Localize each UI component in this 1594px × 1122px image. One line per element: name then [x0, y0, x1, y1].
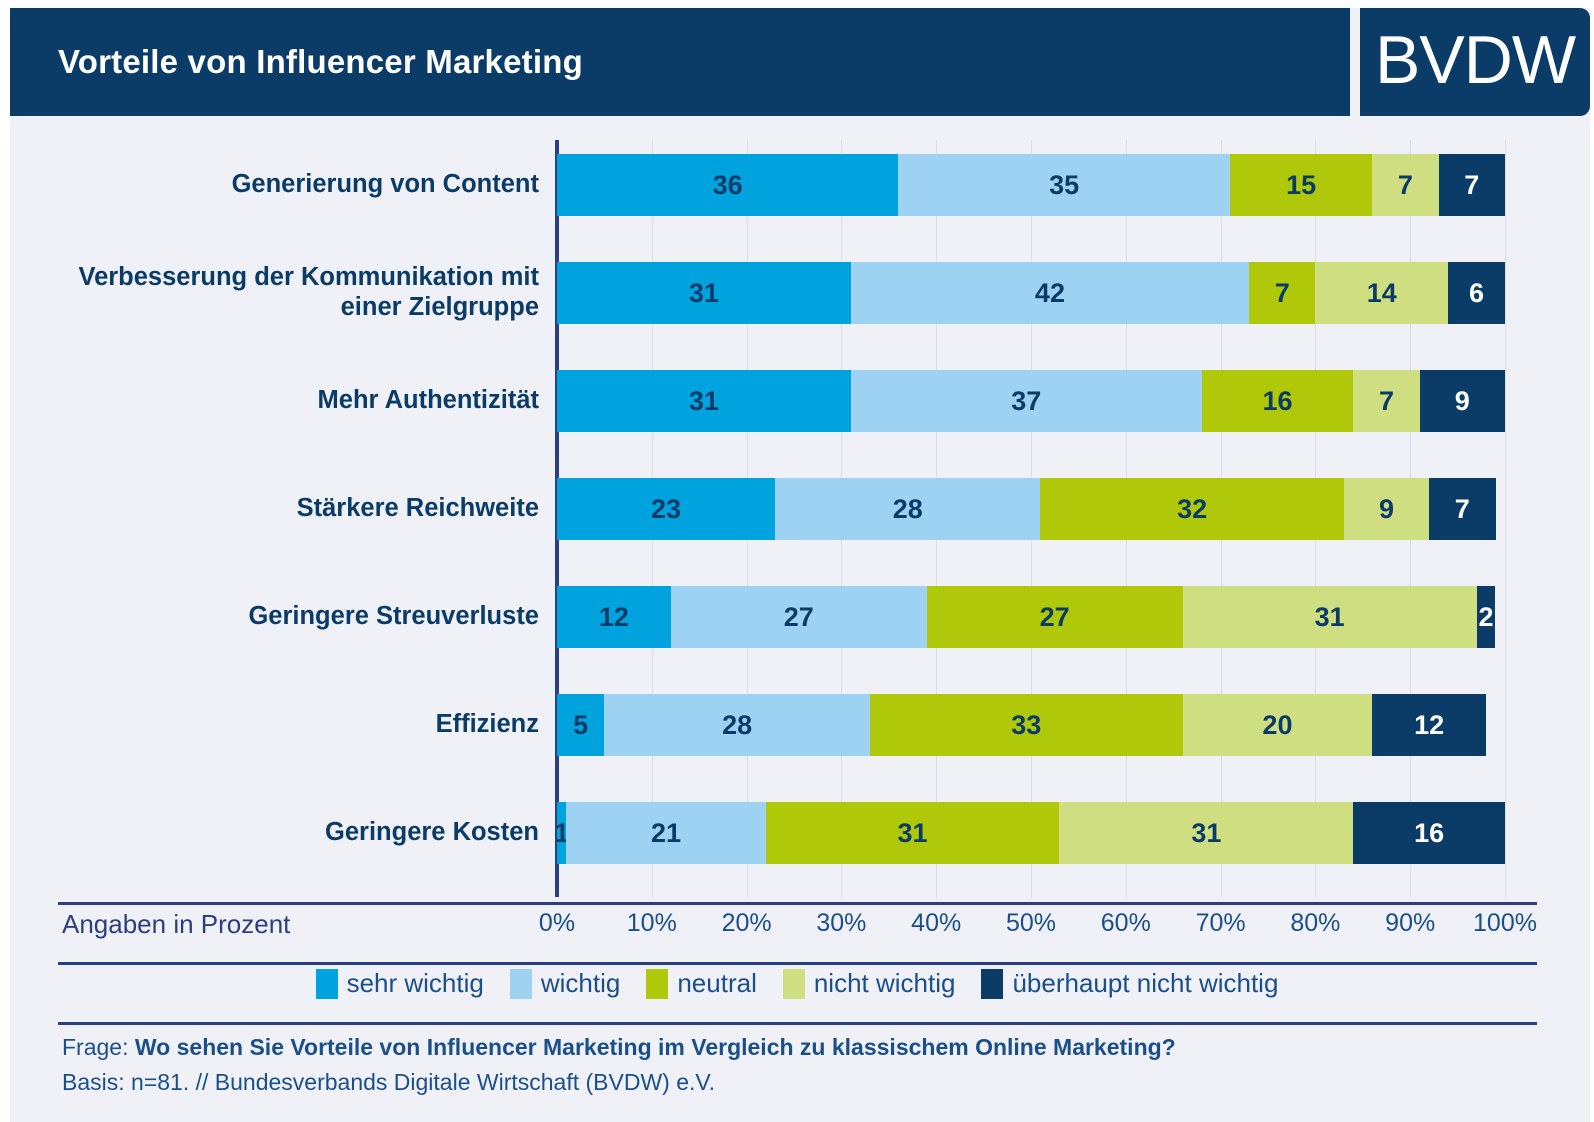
- legend-label: neutral: [677, 968, 757, 999]
- legend-item[interactable]: sehr wichtig: [316, 968, 484, 999]
- legend-item[interactable]: wichtig: [510, 968, 620, 999]
- x-axis-tick: 0%: [539, 909, 575, 938]
- gridline: [1505, 140, 1506, 897]
- bar-segment: 23: [557, 478, 775, 540]
- category-label: Mehr Authentizität: [9, 385, 539, 415]
- page-title: Vorteile von Influencer Marketing: [58, 43, 583, 81]
- legend-label: sehr wichtig: [347, 968, 484, 999]
- legend-swatch-icon: [510, 969, 532, 999]
- bar-segment: 32: [1040, 478, 1343, 540]
- bar-segment: 16: [1202, 370, 1354, 432]
- x-axis-tick: 40%: [911, 909, 961, 938]
- bar-row: 122727312: [557, 586, 1505, 648]
- bar-segment: 37: [851, 370, 1202, 432]
- bar-segment: 28: [604, 694, 869, 756]
- x-axis-tick: 60%: [1101, 909, 1151, 938]
- bar-segment: 9: [1344, 478, 1429, 540]
- category-label: Geringere Kosten: [9, 817, 539, 847]
- header-bar: Vorteile von Influencer Marketing: [10, 8, 1350, 116]
- legend-label: nicht wichtig: [814, 968, 956, 999]
- bar-segment: 20: [1183, 694, 1373, 756]
- bar-segment: 14: [1315, 262, 1448, 324]
- chart-legend: sehr wichtigwichtigneutralnicht wichtigü…: [0, 968, 1594, 999]
- footer-question: Frage: Wo sehen Sie Vorteile von Influen…: [62, 1030, 1532, 1065]
- bar-segment: 36: [557, 154, 898, 216]
- bar-segment: 42: [851, 262, 1249, 324]
- footer-question-lead: Frage:: [62, 1034, 128, 1060]
- x-axis-tick-labels: 0%10%20%30%40%50%60%70%80%90%100%: [557, 909, 1505, 945]
- bar-row: 31427146: [557, 262, 1505, 324]
- bar-segment: 16: [1353, 802, 1505, 864]
- x-axis-tick: 50%: [1006, 909, 1056, 938]
- category-label: Stärkere Reichweite: [9, 493, 539, 523]
- bar-segment: 2: [1477, 586, 1496, 648]
- axis-rule: [58, 902, 1537, 905]
- bar-row: 31371679: [557, 370, 1505, 432]
- bar-segment: 21: [566, 802, 765, 864]
- footer-basis: Basis: n=81. // Bundesverbands Digitale …: [62, 1065, 1532, 1100]
- bar-row: 121313116: [557, 802, 1505, 864]
- bar-segment: 7: [1372, 154, 1438, 216]
- x-axis-tick: 90%: [1385, 909, 1435, 938]
- frame-margin-right: [1590, 0, 1594, 1122]
- category-axis-labels: Generierung von ContentVerbesserung der …: [10, 140, 547, 897]
- legend-item[interactable]: neutral: [646, 968, 757, 999]
- x-axis-tick: 80%: [1290, 909, 1340, 938]
- bar-segment: 9: [1420, 370, 1505, 432]
- bar-segment: 1: [557, 802, 566, 864]
- bar-segment: 6: [1448, 262, 1505, 324]
- bar-segment: 7: [1249, 262, 1315, 324]
- chart-page: Vorteile von Influencer Marketing BVDW G…: [0, 0, 1594, 1122]
- bar-segment: 31: [557, 370, 851, 432]
- category-label: Generierung von Content: [9, 169, 539, 199]
- frame-margin-top: [0, 0, 1594, 8]
- legend-swatch-icon: [316, 969, 338, 999]
- x-axis-tick: 10%: [627, 909, 677, 938]
- bar-segment: 31: [557, 262, 851, 324]
- bar-segment: 31: [1059, 802, 1353, 864]
- legend-swatch-icon: [783, 969, 805, 999]
- legend-item[interactable]: nicht wichtig: [783, 968, 956, 999]
- bvdw-logo-text: BVDW: [1375, 26, 1575, 98]
- legend-rule: [58, 962, 1537, 965]
- bar-segment: 5: [557, 694, 604, 756]
- bar-segment: 15: [1230, 154, 1372, 216]
- bar-segment: 31: [1183, 586, 1477, 648]
- axis-unit-label: Angaben in Prozent: [62, 909, 290, 940]
- legend-swatch-icon: [981, 969, 1003, 999]
- category-label: Geringere Streuverluste: [9, 601, 539, 631]
- bvdw-logo: BVDW: [1360, 8, 1590, 116]
- bar-row: 36351577: [557, 154, 1505, 216]
- legend-label: überhaupt nicht wichtig: [1012, 968, 1278, 999]
- legend-label: wichtig: [541, 968, 620, 999]
- bar-segment: 33: [870, 694, 1183, 756]
- footer-rule: [58, 1022, 1537, 1025]
- bar-segment: 27: [671, 586, 927, 648]
- bar-segment: 28: [775, 478, 1040, 540]
- bar-segment: 27: [927, 586, 1183, 648]
- x-axis-tick: 30%: [816, 909, 866, 938]
- x-axis-tick: 70%: [1196, 909, 1246, 938]
- footer-question-text: Wo sehen Sie Vorteile von Influencer Mar…: [135, 1034, 1176, 1060]
- stacked-bar-rows: 3635157731427146313716792328329712272731…: [557, 140, 1505, 897]
- bar-segment: 7: [1353, 370, 1419, 432]
- bar-segment: 7: [1429, 478, 1495, 540]
- chart-area: Generierung von ContentVerbesserung der …: [10, 125, 1590, 900]
- bar-row: 23283297: [557, 478, 1505, 540]
- bar-segment: 31: [766, 802, 1060, 864]
- bar-segment: 12: [557, 586, 671, 648]
- plot-area: 3635157731427146313716792328329712272731…: [557, 140, 1505, 897]
- bar-segment: 35: [898, 154, 1230, 216]
- x-axis-tick: 100%: [1473, 909, 1537, 938]
- x-axis-tick: 20%: [722, 909, 772, 938]
- footer: Frage: Wo sehen Sie Vorteile von Influen…: [62, 1030, 1532, 1099]
- legend-swatch-icon: [646, 969, 668, 999]
- category-label: Verbesserung der Kommunikation mit einer…: [59, 262, 539, 322]
- bar-row: 528332012: [557, 694, 1505, 756]
- legend-item[interactable]: überhaupt nicht wichtig: [981, 968, 1278, 999]
- category-label: Effizienz: [9, 709, 539, 739]
- bar-segment: 12: [1372, 694, 1486, 756]
- bar-segment: 7: [1439, 154, 1505, 216]
